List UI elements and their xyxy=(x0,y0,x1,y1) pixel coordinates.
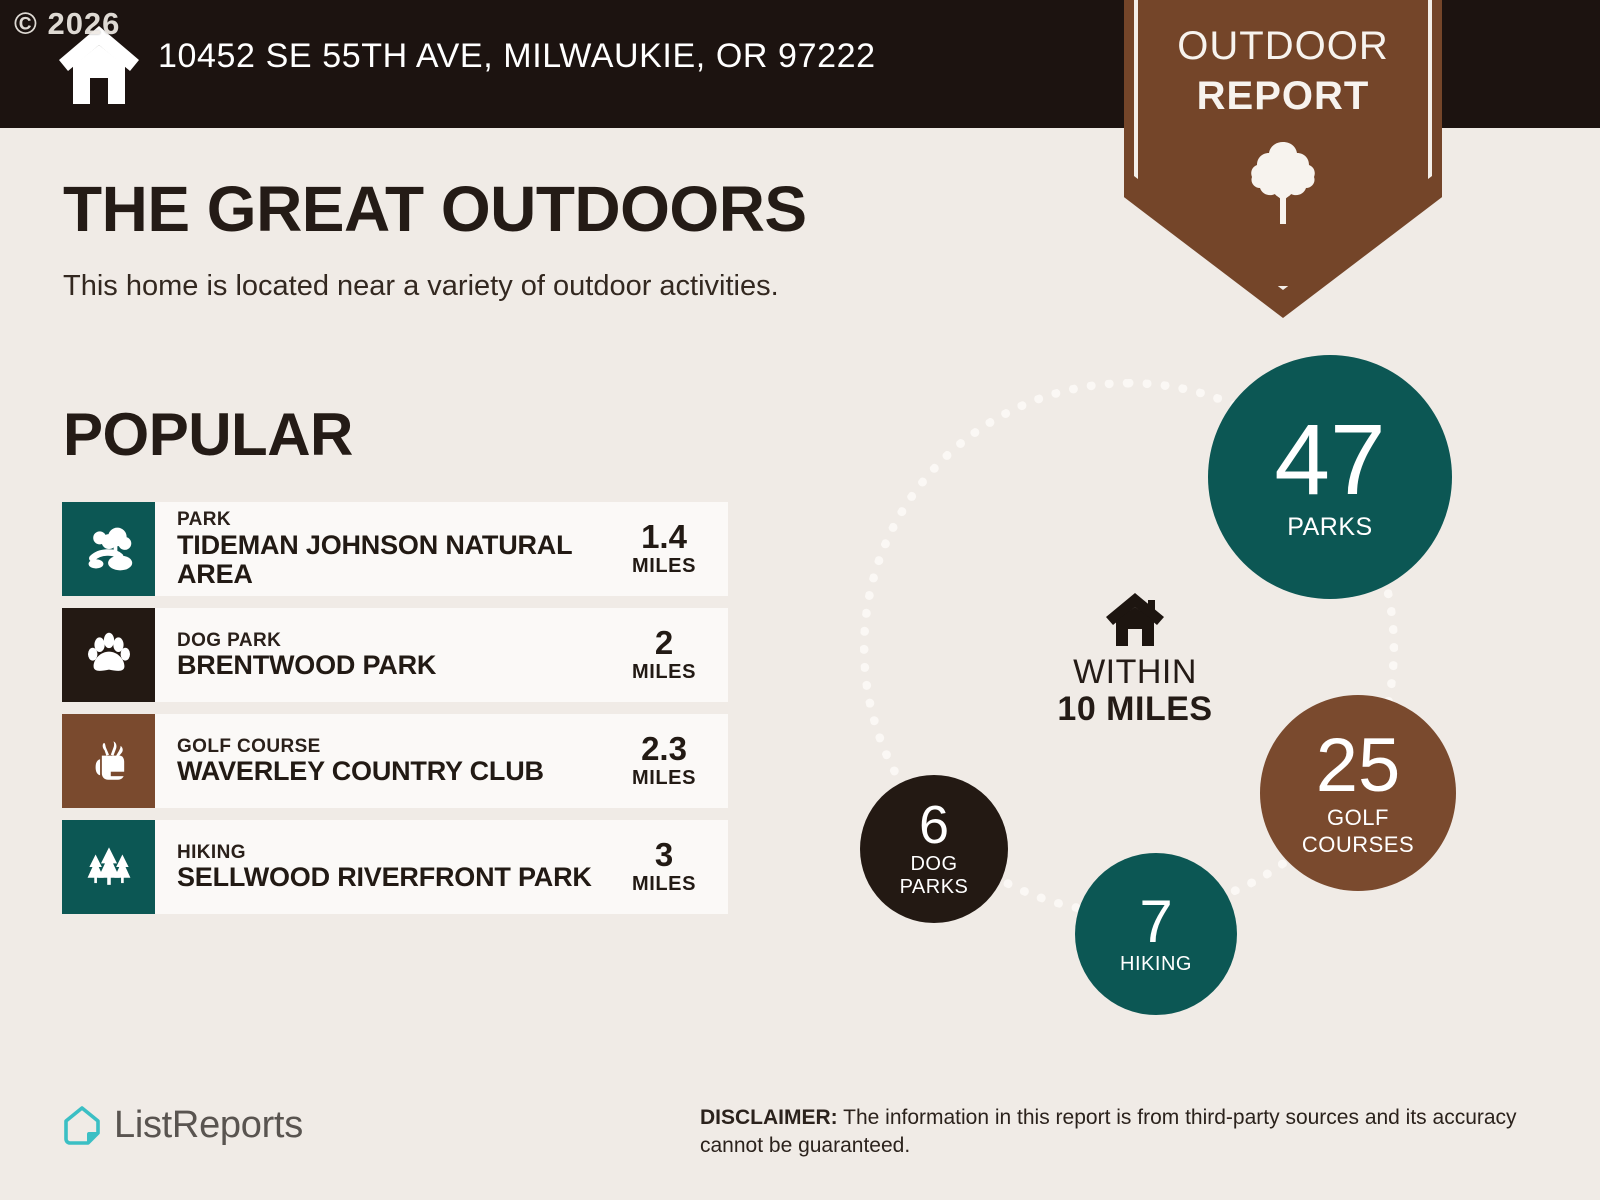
stat-label: PARKS xyxy=(1287,514,1372,540)
popular-list: PARK TIDEMAN JOHNSON NATURAL AREA 1.4 MI… xyxy=(62,502,728,926)
badge-title-line1: OUTDOOR xyxy=(1124,24,1442,69)
badge-title-line2: REPORT xyxy=(1124,74,1442,119)
list-item[interactable]: GOLF COURSE WAVERLEY COUNTRY CLUB 2.3 MI… xyxy=(62,714,728,808)
distance-unit: MILES xyxy=(616,553,712,579)
list-item-distance: 3 MILES xyxy=(616,838,722,897)
distance-value: 2 xyxy=(616,626,712,659)
stat-circle-hiking: 7 HIKING xyxy=(1075,853,1237,1015)
list-item[interactable]: DOG PARK BRENTWOOD PARK 2 MILES xyxy=(62,608,728,702)
list-item[interactable]: PARK TIDEMAN JOHNSON NATURAL AREA 1.4 MI… xyxy=(62,502,728,596)
distance-value: 2.3 xyxy=(616,732,712,765)
list-item-text: DOG PARK BRENTWOOD PARK xyxy=(177,630,616,681)
disclaimer: DISCLAIMER: The information in this repo… xyxy=(700,1104,1520,1159)
stat-label-line1: GOLF xyxy=(1327,806,1389,829)
list-item-body: PARK TIDEMAN JOHNSON NATURAL AREA 1.4 MI… xyxy=(155,502,728,596)
stat-label-line1: DOG xyxy=(910,854,957,875)
stat-value: 47 xyxy=(1274,413,1385,508)
pine-trees-icon xyxy=(62,820,155,914)
distance-value: 3 xyxy=(616,838,712,871)
list-item-body: HIKING SELLWOOD RIVERFRONT PARK 3 MILES xyxy=(155,820,728,914)
list-item[interactable]: HIKING SELLWOOD RIVERFRONT PARK 3 MILES xyxy=(62,820,728,914)
list-item-category: HIKING xyxy=(177,842,616,864)
stat-value: 25 xyxy=(1316,730,1401,802)
list-item-distance: 1.4 MILES xyxy=(616,520,722,579)
page-title: THE GREAT OUTDOORS xyxy=(63,172,807,246)
distance-unit: MILES xyxy=(616,659,712,685)
listreports-house-icon xyxy=(60,1103,104,1147)
list-item-category: DOG PARK xyxy=(177,630,616,652)
copyright-watermark: © 2026 xyxy=(14,6,120,42)
center-line2: 10 MILES xyxy=(1020,691,1250,728)
list-item-text: PARK TIDEMAN JOHNSON NATURAL AREA xyxy=(177,509,616,589)
stat-label-line2: COURSES xyxy=(1302,833,1414,856)
stat-circle-golf-courses: 25 GOLF COURSES xyxy=(1260,695,1456,891)
list-item-name: SELLWOOD RIVERFRONT PARK xyxy=(177,863,616,892)
stat-circle-parks: 47 PARKS xyxy=(1208,355,1452,599)
list-item-distance: 2.3 MILES xyxy=(616,732,722,791)
distance-unit: MILES xyxy=(616,765,712,791)
popular-heading: POPULAR xyxy=(63,400,353,469)
list-item-name: BRENTWOOD PARK xyxy=(177,651,616,680)
list-item-body: GOLF COURSE WAVERLEY COUNTRY CLUB 2.3 MI… xyxy=(155,714,728,808)
house-icon xyxy=(1104,590,1166,648)
list-item-name: WAVERLEY COUNTRY CLUB xyxy=(177,757,616,786)
list-item-distance: 2 MILES xyxy=(616,626,722,685)
list-item-name: TIDEMAN JOHNSON NATURAL AREA xyxy=(177,531,616,589)
within-10-miles-diagram: 47 PARKS 25 GOLF COURSES 7 HIKING 6 DOG … xyxy=(840,355,1490,1015)
list-item-category: GOLF COURSE xyxy=(177,736,616,758)
diagram-center: WITHIN 10 MILES xyxy=(1020,590,1250,729)
distance-value: 1.4 xyxy=(616,520,712,553)
stat-value: 7 xyxy=(1139,893,1172,950)
list-item-text: HIKING SELLWOOD RIVERFRONT PARK xyxy=(177,842,616,893)
list-item-text: GOLF COURSE WAVERLEY COUNTRY CLUB xyxy=(177,736,616,787)
paw-print-icon xyxy=(62,608,155,702)
stat-label: HIKING xyxy=(1120,954,1192,975)
stat-value: 6 xyxy=(919,800,949,851)
stat-circle-dog-parks: 6 DOG PARKS xyxy=(860,775,1008,923)
disclaimer-label: DISCLAIMER: xyxy=(700,1106,838,1129)
stat-label-line2: PARKS xyxy=(900,877,969,898)
park-trees-icon xyxy=(62,502,155,596)
center-line1: WITHIN xyxy=(1020,654,1250,691)
list-item-body: DOG PARK BRENTWOOD PARK 2 MILES xyxy=(155,608,728,702)
page-subtitle: This home is located near a variety of o… xyxy=(63,270,779,303)
outdoor-report-badge: OUTDOOR REPORT xyxy=(1124,0,1442,318)
listreports-wordmark: ListReports xyxy=(114,1104,303,1147)
distance-unit: MILES xyxy=(616,871,712,897)
list-item-category: PARK xyxy=(177,509,616,531)
golf-bag-icon xyxy=(62,714,155,808)
listreports-logo[interactable]: ListReports xyxy=(60,1103,303,1147)
tree-icon xyxy=(1248,140,1318,226)
property-address: 10452 SE 55TH AVE, MILWAUKIE, OR 97222 xyxy=(158,37,876,76)
